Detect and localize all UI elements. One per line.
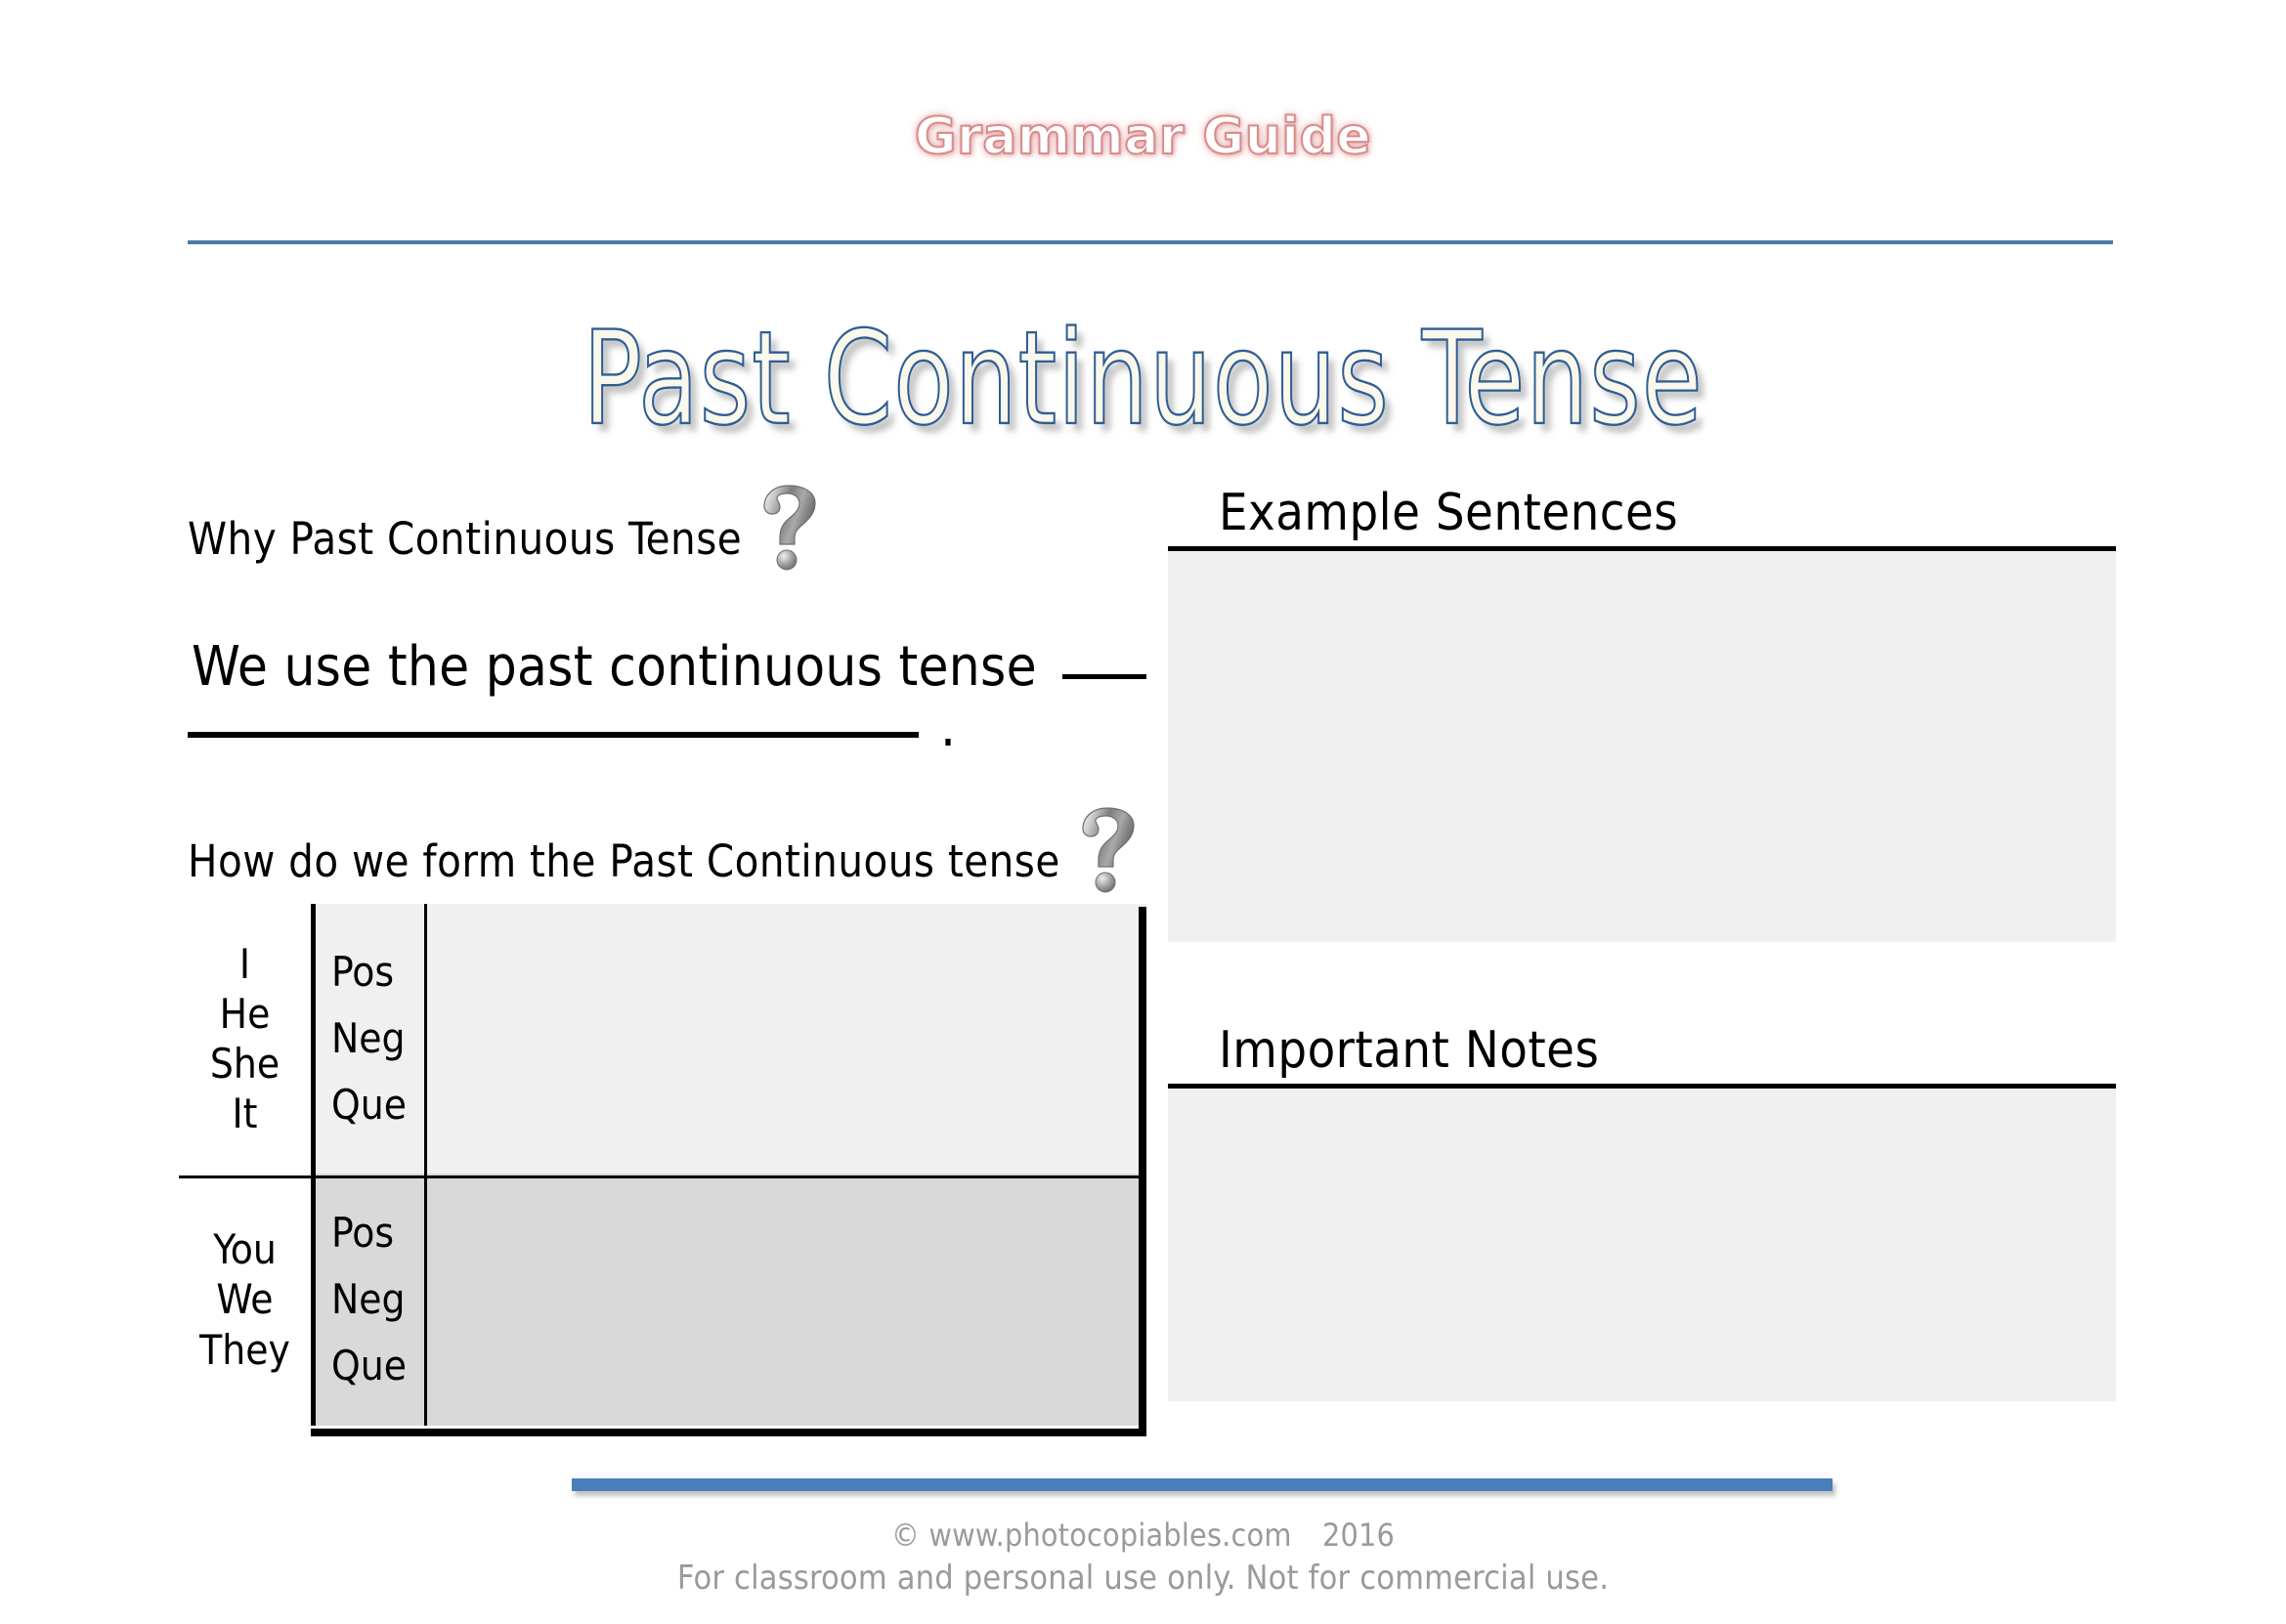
pronoun-item: We xyxy=(179,1274,311,1324)
important-notes-title: Important Notes xyxy=(1168,1021,2116,1080)
use-sentence-line: We use the past continuous tense xyxy=(192,635,1146,699)
header-divider-rule xyxy=(188,240,2113,244)
table-right-border xyxy=(1139,907,1146,1434)
form-label-que: Que xyxy=(331,1333,424,1399)
important-notes-writing-area[interactable] xyxy=(1168,1089,2116,1401)
table-row: I He She It Pos Neg Que xyxy=(179,904,1146,1174)
footer-usage-notice: For classroom and personal use only. Not… xyxy=(0,1559,2286,1598)
answer-area-singular[interactable] xyxy=(426,904,1147,1174)
pronoun-item: I xyxy=(179,939,311,989)
example-sentences-writing-area[interactable] xyxy=(1168,551,2116,942)
footer-divider-bar xyxy=(572,1478,1833,1491)
important-notes-panel: Important Notes xyxy=(1168,1021,2116,1401)
why-heading-label: Why Past Continuous Tense xyxy=(188,513,742,565)
table-row-divider xyxy=(179,1175,1146,1178)
conjugation-table: I He She It Pos Neg Que You We They xyxy=(179,904,1146,1426)
form-label-neg: Neg xyxy=(331,1266,424,1333)
question-mark-3d-icon xyxy=(759,482,820,576)
pronoun-item: It xyxy=(179,1089,311,1138)
page-title: Past Continuous Tense xyxy=(0,315,2286,444)
form-label-pos: Pos xyxy=(331,1200,424,1266)
how-section-heading-row: How do we form the Past Continuous tense xyxy=(188,835,1139,898)
question-mark-3d-icon xyxy=(1078,804,1139,898)
footer-site-label: www.photocopiables.com xyxy=(928,1517,1291,1554)
worksheet-page: Grammar Guide Past Continuous Tense Why … xyxy=(0,0,2286,1624)
sentence-period: . xyxy=(940,718,956,738)
form-label-pos: Pos xyxy=(331,939,424,1005)
answer-area-plural[interactable] xyxy=(426,1174,1147,1426)
footer-copyright: © www.photocopiables.com 2016 xyxy=(0,1517,2286,1554)
form-label-que: Que xyxy=(331,1072,424,1138)
pronoun-cell-singular: I He She It xyxy=(179,904,314,1174)
why-section-heading-row: Why Past Continuous Tense xyxy=(188,513,820,576)
use-sentence-blank[interactable] xyxy=(1062,674,1146,679)
form-labels-cell-singular: Pos Neg Que xyxy=(314,904,426,1174)
use-sentence-long-blank[interactable] xyxy=(188,732,919,738)
pronoun-item: You xyxy=(179,1224,311,1274)
table-row: You We They Pos Neg Que xyxy=(179,1174,1146,1426)
footer-year-label: 2016 xyxy=(1322,1517,1395,1554)
form-label-neg: Neg xyxy=(331,1005,424,1072)
example-sentences-title: Example Sentences xyxy=(1168,484,2116,542)
table-bottom-border xyxy=(311,1429,1146,1436)
form-labels-cell-plural: Pos Neg Que xyxy=(314,1174,426,1426)
pronoun-item: He xyxy=(179,989,311,1039)
use-sentence-text: We use the past continuous tense xyxy=(192,635,1037,699)
how-heading-label: How do we form the Past Continuous tense xyxy=(188,835,1060,887)
pronoun-item: They xyxy=(179,1325,311,1375)
page-brand-title: Grammar Guide xyxy=(0,107,2286,166)
use-sentence-second-line: . xyxy=(188,718,956,738)
copyright-icon: © xyxy=(891,1517,920,1554)
pronoun-item: She xyxy=(179,1039,311,1089)
pronoun-cell-plural: You We They xyxy=(179,1174,314,1426)
example-sentences-panel: Example Sentences xyxy=(1168,484,2116,942)
